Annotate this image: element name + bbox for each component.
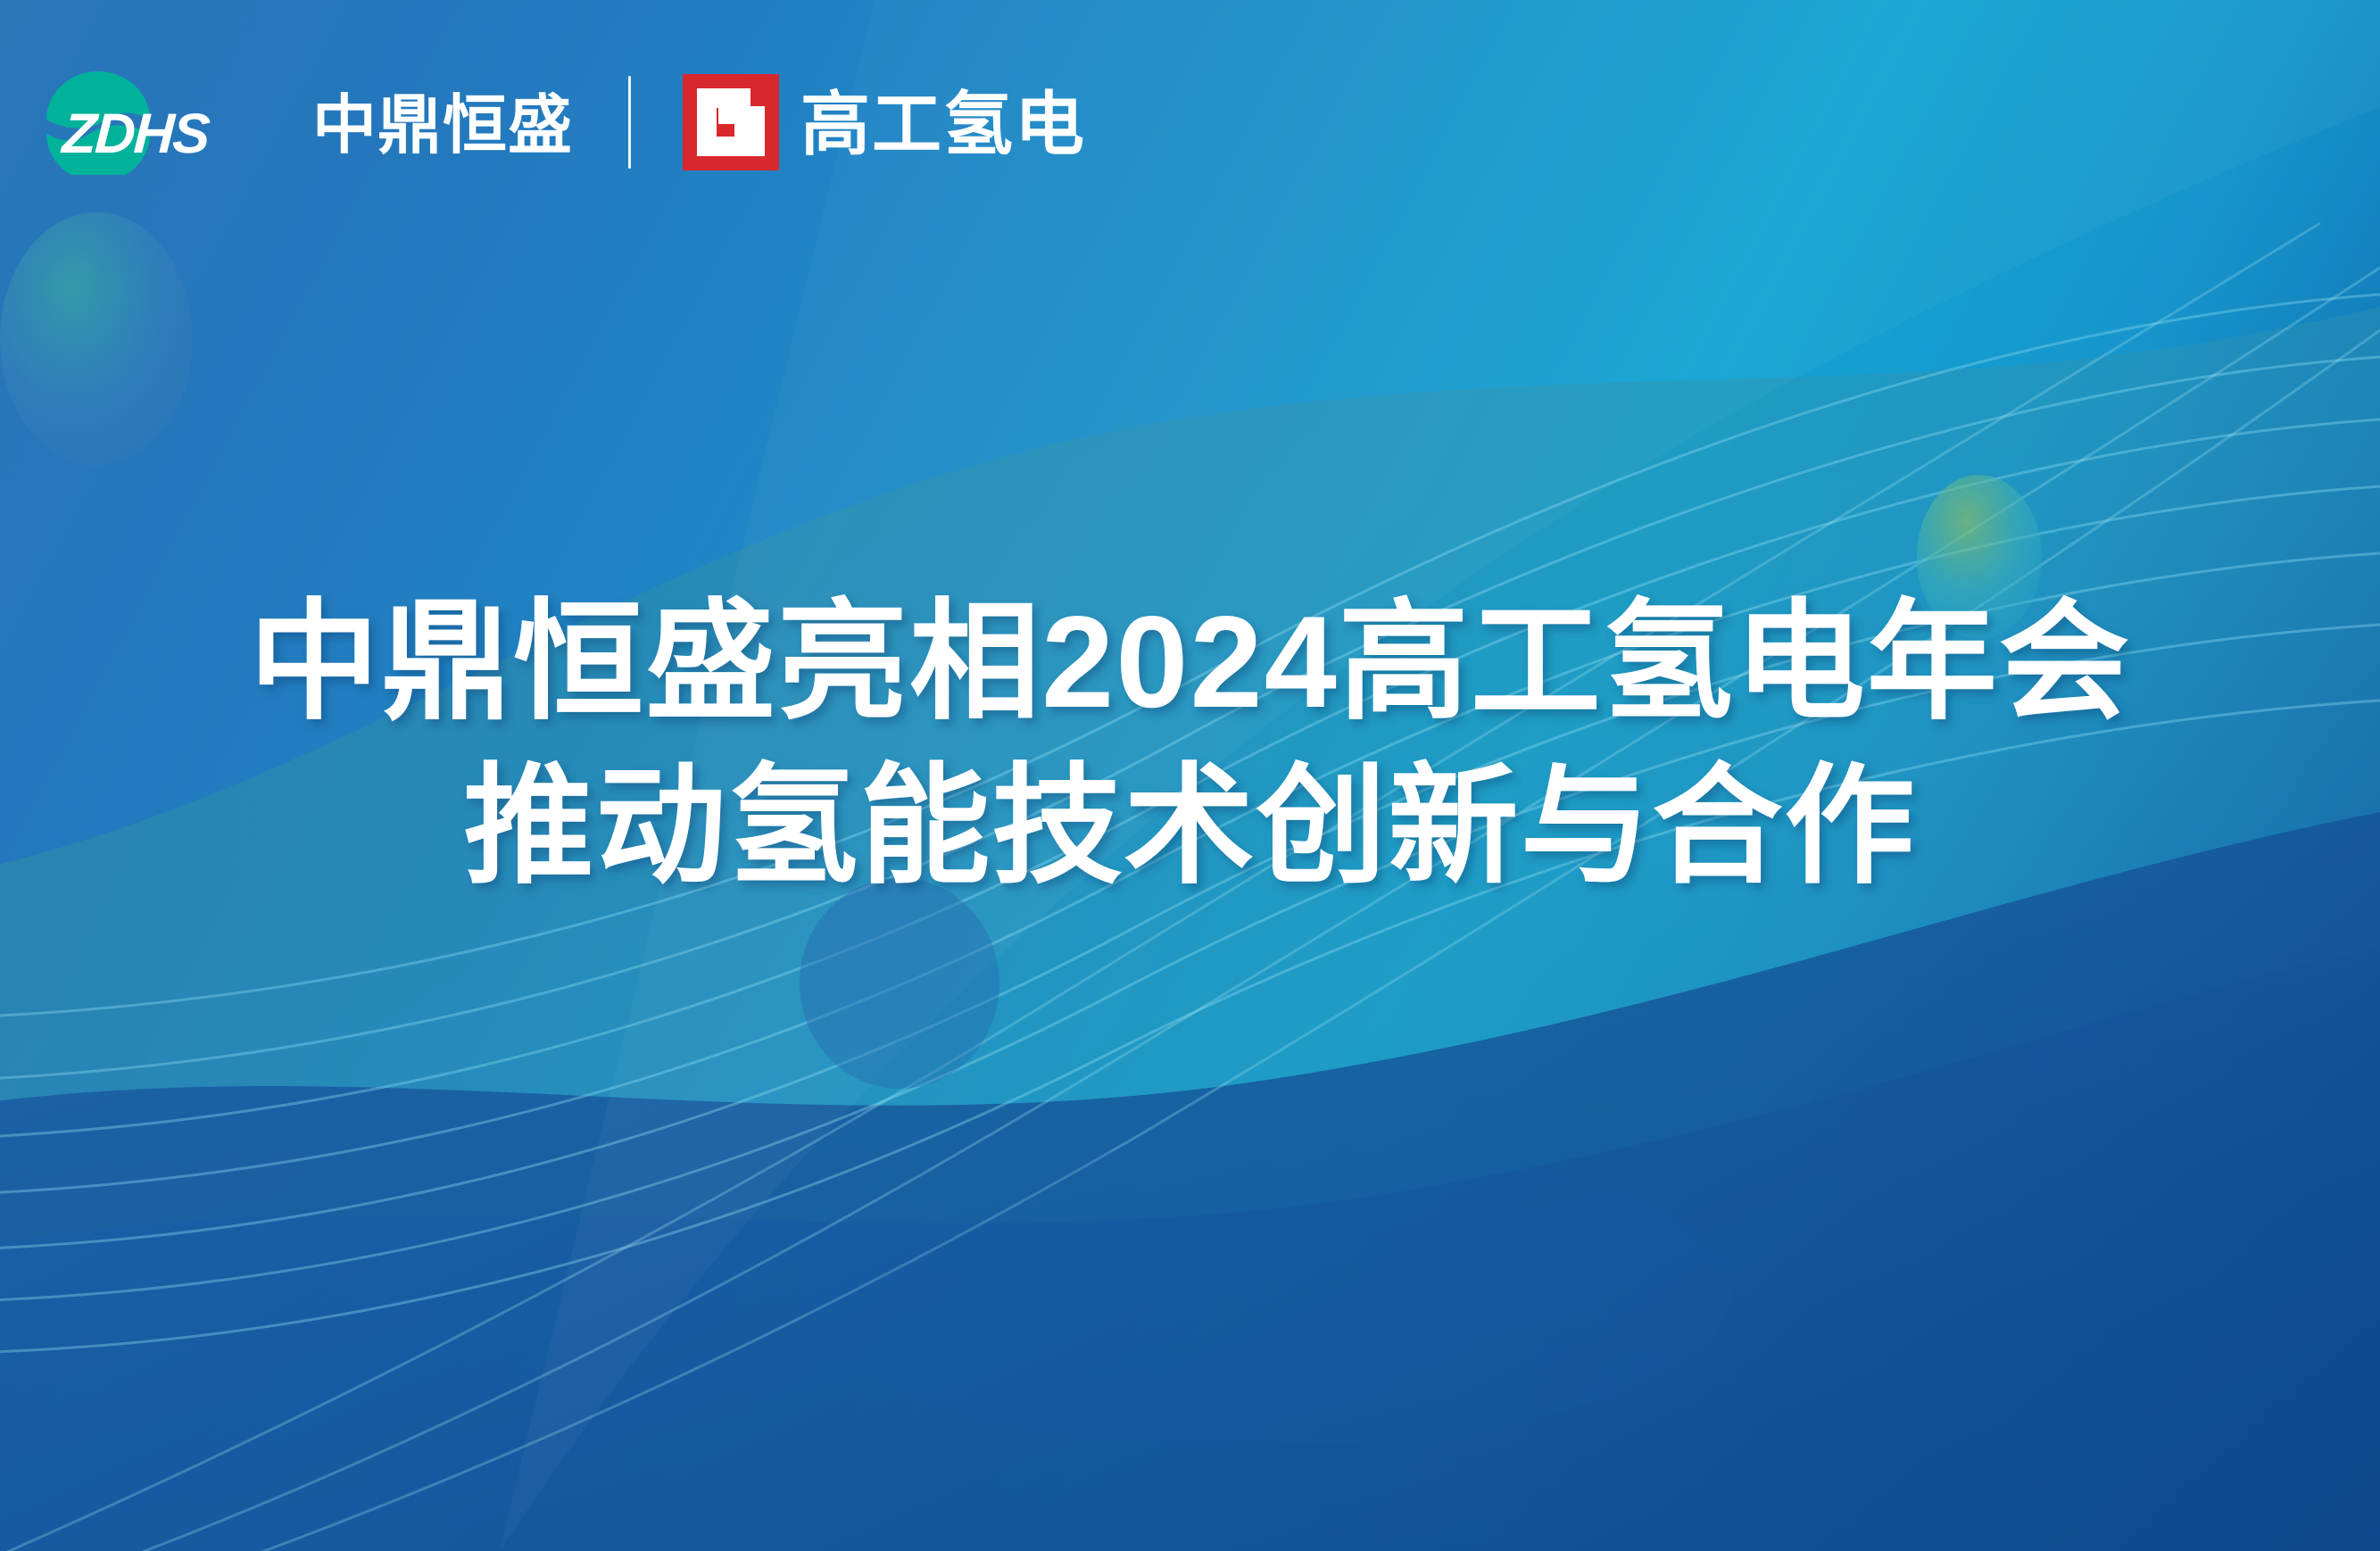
zdhs-chinese-name: 中鼎恒盛 (312, 94, 573, 158)
g-square-icon (683, 74, 779, 170)
headline-line-1: 中鼎恒盛亮相2024高工氢电年会 (54, 580, 2326, 744)
headline-block: 中鼎恒盛亮相2024高工氢电年会 推动氢能技术创新与合作 (0, 580, 2380, 908)
logo-gaogongqingdian: 高工氢电 (683, 64, 1086, 180)
logo-divider (628, 76, 631, 169)
ggqd-chinese-name: 高工氢电 (800, 89, 1086, 159)
promo-banner: ZDHS 中鼎恒盛 高工氢电 中鼎恒盛亮相2024高工氢电年会 推动氢能技术创新… (0, 0, 2380, 1551)
zdhs-wordmark: ZDHS (61, 106, 210, 162)
headline-line-2: 推动氢能技术创新与合作 (54, 744, 2326, 908)
logo-zdhs: ZDHS 中鼎恒盛 (43, 64, 573, 180)
logo-bar: ZDHS 中鼎恒盛 高工氢电 (43, 64, 1086, 180)
